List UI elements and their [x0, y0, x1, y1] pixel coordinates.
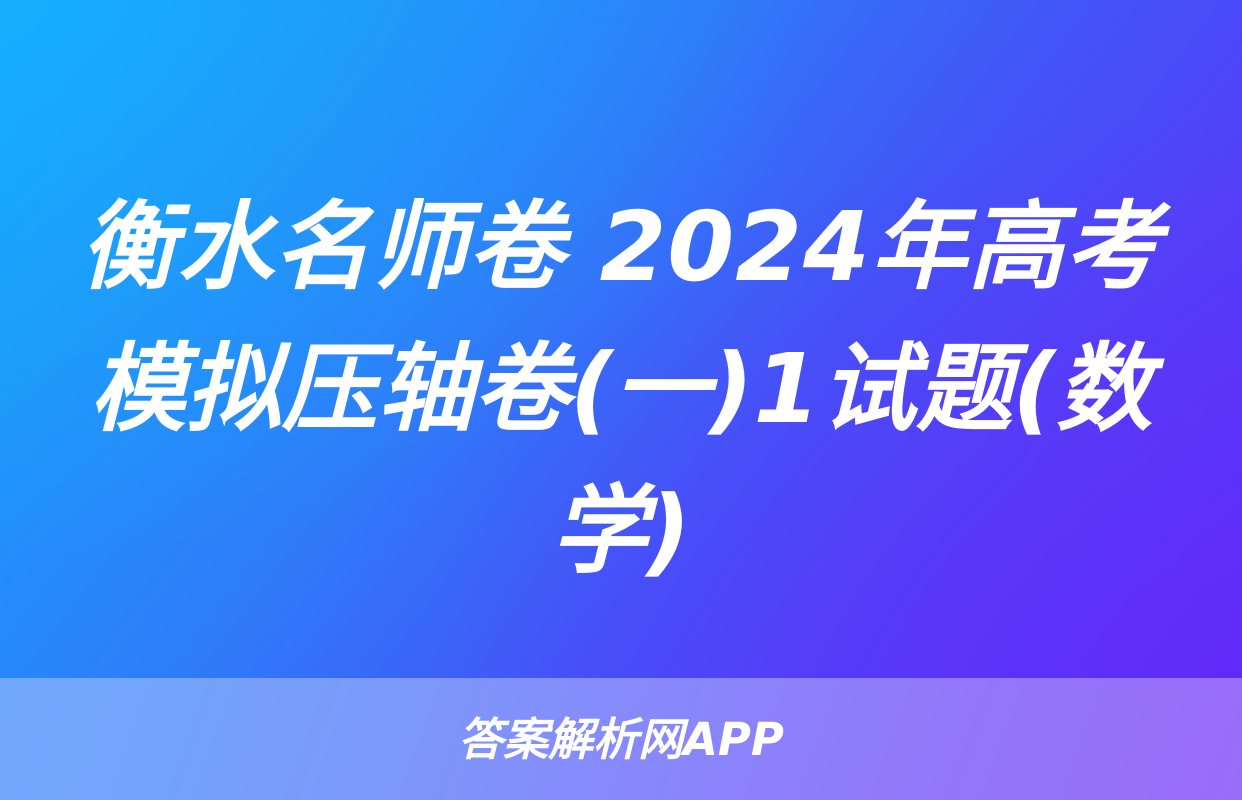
title-line-1: 衡水名师卷 2024年高考 [0, 176, 1242, 318]
poster-canvas: 衡水名师卷 2024年高考 模拟压轴卷(一)1试题(数 学) 答案解析网APP [0, 0, 1242, 800]
title-line-2: 模拟压轴卷(一)1试题(数 [0, 318, 1242, 460]
poster-title: 衡水名师卷 2024年高考 模拟压轴卷(一)1试题(数 学) [0, 176, 1242, 602]
watermark-banner: 答案解析网APP [0, 678, 1242, 800]
watermark-text: 答案解析网APP [458, 717, 784, 762]
title-line-3: 学) [0, 460, 1242, 602]
